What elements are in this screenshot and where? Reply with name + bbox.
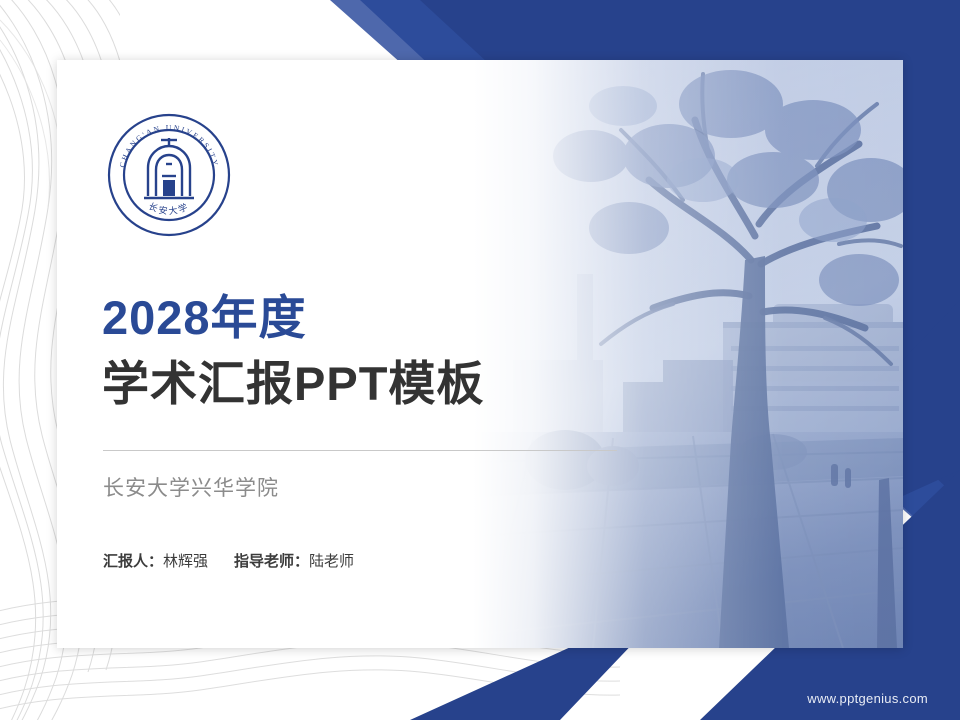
footer-website-url: www.pptgenius.com	[807, 691, 928, 706]
school-name: 长安大学兴华学院	[103, 472, 279, 502]
slide-title-year: 2028年度	[102, 292, 307, 344]
presenter-label: 汇报人：	[103, 553, 163, 570]
title-divider	[103, 450, 617, 451]
svg-text:长安大学: 长安大学	[147, 200, 191, 216]
advisor-label: 指导老师：	[234, 553, 309, 570]
presentation-slide: CHANG'AN UNIVERSITY 长安大学 2028年度 学术汇报PPT模…	[0, 0, 960, 720]
presenter-name: 林辉强	[163, 553, 208, 570]
photo-blend-overlay	[473, 60, 903, 648]
campus-photo	[473, 60, 903, 648]
advisor-name: 陆老师	[309, 553, 354, 570]
university-logo: CHANG'AN UNIVERSITY 长安大学	[104, 110, 234, 240]
slide-content-card: CHANG'AN UNIVERSITY 长安大学 2028年度 学术汇报PPT模…	[57, 60, 903, 648]
presenter-info: 汇报人：林辉强指导老师：陆老师	[103, 550, 354, 571]
slide-title-main: 学术汇报PPT模板	[102, 358, 484, 410]
